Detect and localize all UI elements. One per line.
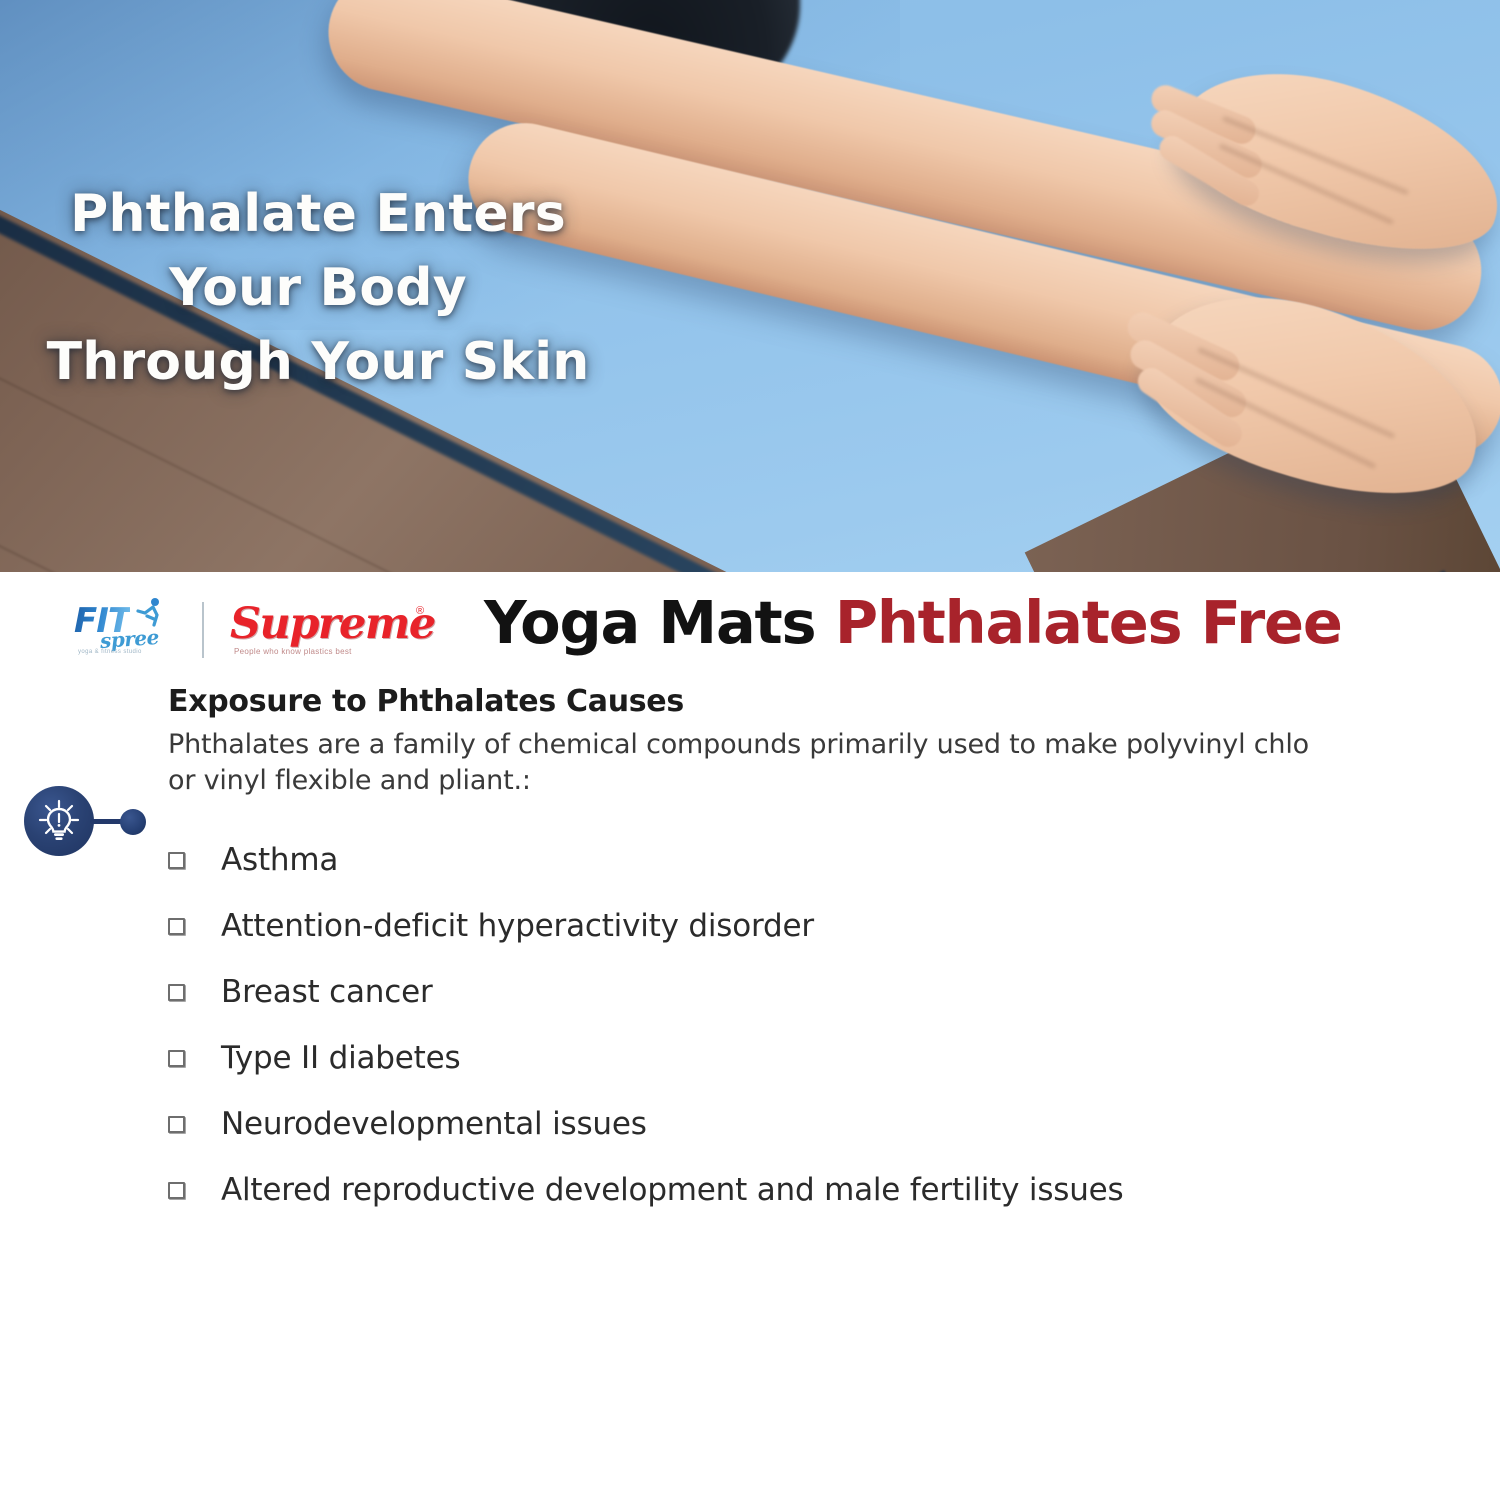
checkbox-square-icon — [168, 852, 185, 869]
list-item: Breast cancer — [168, 959, 1468, 1025]
supreme-tagline: People who know plastics best — [234, 647, 352, 656]
list-item-label: Type II diabetes — [221, 1040, 460, 1076]
logo-divider — [202, 602, 204, 658]
hero-line-3: Through Your Skin — [18, 326, 618, 400]
paragraph-line: Phthalates are a family of chemical comp… — [168, 727, 1500, 763]
page-title: Yoga Mats Phthalates Free — [484, 588, 1342, 657]
supreme-wordmark: Supreme — [230, 599, 435, 649]
fitspree-tagline: yoga & fitness studio — [78, 649, 142, 655]
registered-mark-icon: ® — [416, 605, 424, 617]
list-item-label: Altered reproductive development and mal… — [221, 1172, 1124, 1208]
paragraph-line: or vinyl flexible and pliant.: — [168, 763, 1500, 799]
intro-paragraph: Phthalates are a family of chemical comp… — [168, 727, 1500, 799]
list-item: Attention-deficit hyperactivity disorder — [168, 893, 1468, 959]
lightbulb-badge — [24, 786, 154, 856]
title-part-yoga-mats: Yoga Mats — [484, 588, 835, 657]
list-item: Asthma — [168, 827, 1468, 893]
brand-logo-bar: FIT spree yoga & fitness studio Supreme … — [72, 594, 440, 666]
checkbox-square-icon — [168, 1182, 185, 1199]
checkbox-square-icon — [168, 984, 185, 1001]
runner-icon — [134, 597, 164, 629]
floor-plank-line — [0, 562, 659, 572]
list-item: Neurodevelopmental issues — [168, 1091, 1468, 1157]
section-subheading: Exposure to Phthalates Causes — [168, 684, 684, 719]
list-item: Type II diabetes — [168, 1025, 1468, 1091]
hero-overlay-text: Phthalate Enters Your Body Through Your … — [18, 178, 618, 399]
list-item-label: Asthma — [221, 842, 338, 878]
badge-connector-dot — [120, 809, 146, 835]
supreme-logo[interactable]: Supreme ® People who know plastics best — [230, 597, 440, 663]
title-part-phthalates-free: Phthalates Free — [835, 588, 1342, 657]
content-panel: FIT spree yoga & fitness studio Supreme … — [0, 572, 1500, 1500]
infographic-page: Phthalate Enters Your Body Through Your … — [0, 0, 1500, 1500]
checkbox-square-icon — [168, 1116, 185, 1133]
hero-line-2: Your Body — [18, 252, 618, 326]
list-item: Altered reproductive development and mal… — [168, 1157, 1468, 1223]
checkbox-square-icon — [168, 918, 185, 935]
hero-line-1: Phthalate Enters — [18, 178, 618, 252]
list-item-label: Neurodevelopmental issues — [221, 1106, 647, 1142]
fitspree-logo[interactable]: FIT spree yoga & fitness studio — [72, 597, 178, 663]
checkbox-square-icon — [168, 1050, 185, 1067]
list-item-label: Attention-deficit hyperactivity disorder — [221, 908, 814, 944]
list-item-label: Breast cancer — [221, 974, 433, 1010]
causes-list: Asthma Attention-deficit hyperactivity d… — [168, 827, 1468, 1223]
hero-photo: Phthalate Enters Your Body Through Your … — [0, 0, 1500, 572]
lightbulb-icon — [37, 798, 81, 849]
